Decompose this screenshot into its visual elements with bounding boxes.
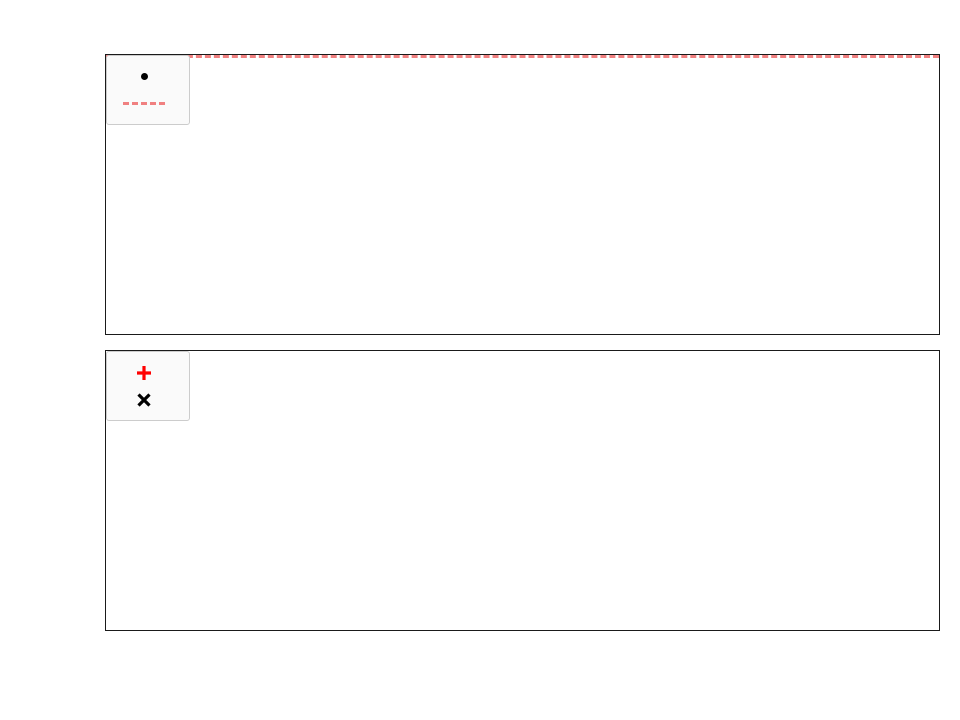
legend-item-measurements[interactable] xyxy=(117,63,177,90)
bottom-panel-axes xyxy=(105,350,940,631)
plus-marker-icon xyxy=(117,363,171,383)
top-panel-axes xyxy=(105,54,940,335)
legend-item-predicted-stars[interactable] xyxy=(117,386,177,413)
threshold-line xyxy=(106,55,939,58)
figure-canvas xyxy=(0,0,960,720)
bottom-legend xyxy=(106,351,190,421)
legend-item-threshold[interactable] xyxy=(117,90,177,117)
dot-marker-icon xyxy=(117,73,171,80)
top-plot-area xyxy=(106,55,939,334)
legend-item-matched-stars[interactable] xyxy=(117,359,177,386)
bottom-plot-area xyxy=(106,351,939,630)
top-legend xyxy=(106,55,190,125)
cross-marker-icon xyxy=(117,390,171,410)
dashed-line-icon xyxy=(117,102,171,105)
